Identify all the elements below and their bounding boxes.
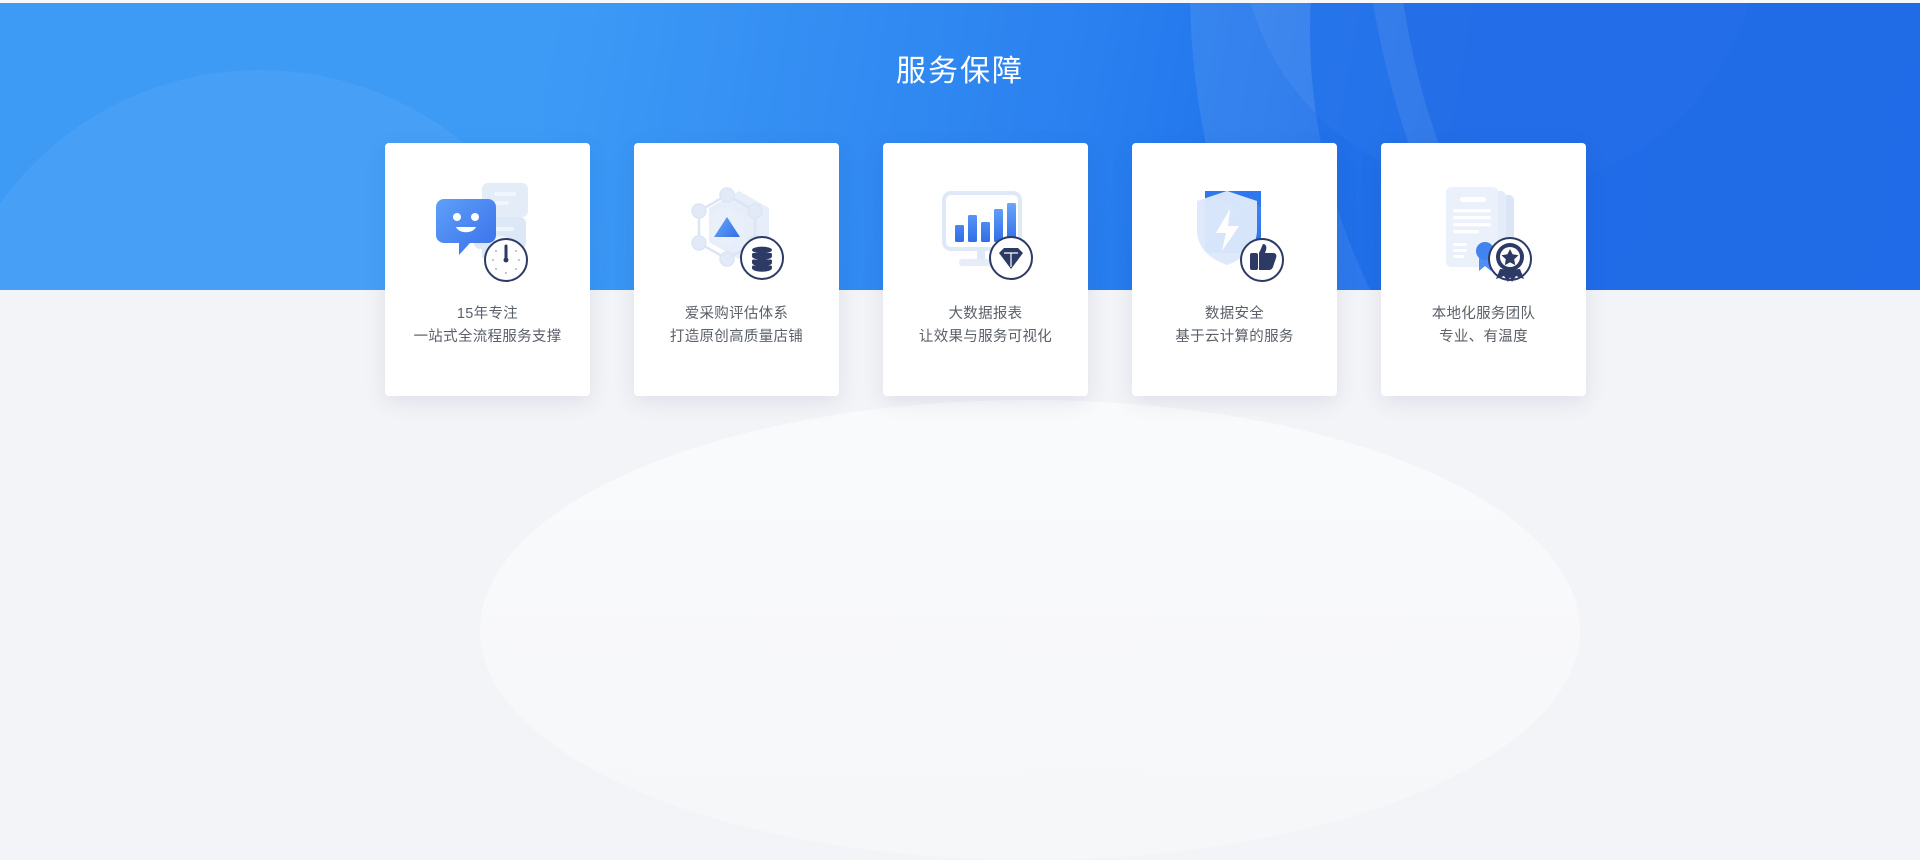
service-card[interactable]: 大数据报表 让效果与服务可视化 (883, 143, 1088, 396)
certificate-document-icon (1424, 175, 1544, 287)
card-line-2: 打造原创高质量店铺 (670, 326, 803, 349)
card-line-2: 一站式全流程服务支撑 (414, 326, 562, 349)
card-line-1: 本地化服务团队 (1432, 306, 1536, 322)
card-caption: 本地化服务团队 专业、有温度 (1432, 303, 1536, 349)
service-card[interactable]: 数据安全 基于云计算的服务 (1132, 143, 1337, 396)
service-card-list: 15年专注 一站式全流程服务支撑 (385, 143, 1586, 396)
hexagon-network-icon (677, 175, 797, 287)
card-caption: 数据安全 基于云计算的服务 (1175, 303, 1293, 349)
card-line-2: 基于云计算的服务 (1175, 326, 1293, 349)
top-edge-line (0, 0, 1920, 3)
section-title: 服务保障 (0, 46, 1920, 90)
card-line-1: 数据安全 (1205, 306, 1264, 322)
service-card[interactable]: 爱采购评估体系 打造原创高质量店铺 (634, 143, 839, 396)
card-caption: 15年专注 一站式全流程服务支撑 (414, 303, 562, 349)
decorative-bottom-arc (480, 400, 1580, 860)
shield-lightning-icon (1175, 175, 1295, 287)
monitor-bar-chart-icon (926, 175, 1046, 287)
card-caption: 爱采购评估体系 打造原创高质量店铺 (670, 303, 803, 349)
service-card[interactable]: 15年专注 一站式全流程服务支撑 (385, 143, 590, 396)
card-line-1: 爱采购评估体系 (685, 306, 789, 322)
service-card[interactable]: 本地化服务团队 专业、有温度 (1381, 143, 1586, 396)
chat-bubbles-icon (428, 175, 548, 287)
card-caption: 大数据报表 让效果与服务可视化 (919, 303, 1052, 349)
card-line-1: 15年专注 (457, 306, 518, 322)
card-line-2: 让效果与服务可视化 (919, 326, 1052, 349)
card-line-2: 专业、有温度 (1432, 326, 1536, 349)
card-line-1: 大数据报表 (948, 306, 1022, 322)
